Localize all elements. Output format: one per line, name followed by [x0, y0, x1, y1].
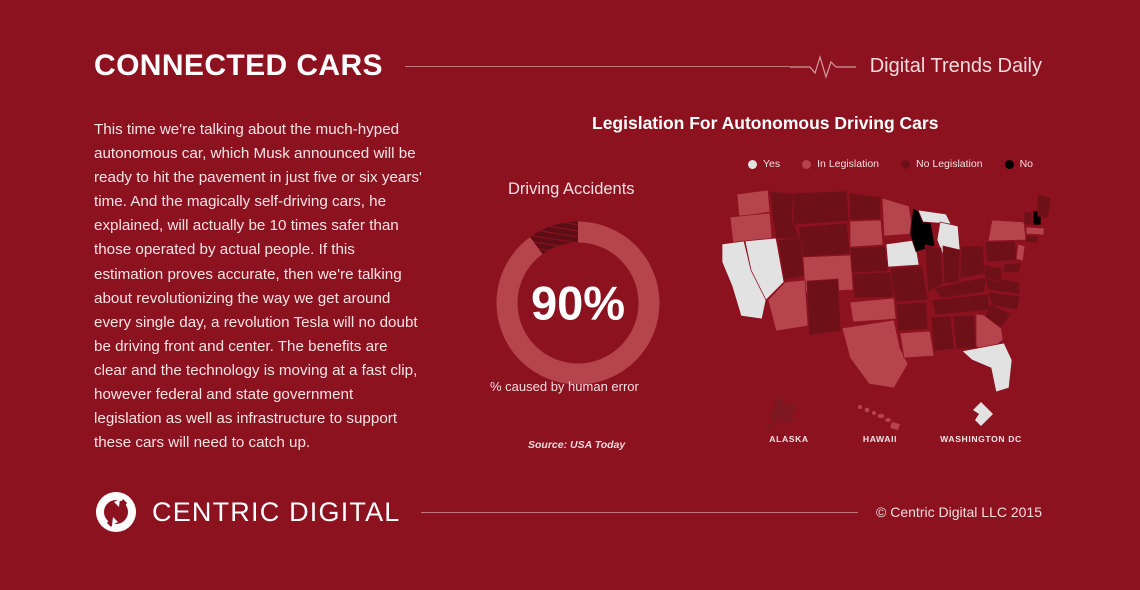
copyright: © Centric Digital LLC 2015: [876, 504, 1042, 520]
state-il: [925, 245, 943, 292]
state-mn: [882, 198, 913, 236]
map-legend: Yes In Legislation No Legislation No: [748, 158, 1033, 170]
legend-label: In Legislation: [817, 158, 879, 170]
tagline: Digital Trends Daily: [870, 55, 1042, 78]
infographic-canvas: CONNECTED CARS Digital Trends Daily This…: [0, 0, 1140, 590]
state-vt: [1024, 212, 1032, 225]
brand-name: CENTRIC DIGITAL: [152, 497, 401, 528]
state-pa: [985, 241, 1017, 262]
state-oh: [960, 246, 985, 278]
donut-title: Driving Accidents: [508, 180, 691, 199]
dc-shape-icon: [967, 400, 995, 430]
inset-hawaii: HAWAII: [840, 404, 920, 444]
us-map-graphic: [704, 188, 1064, 403]
footer: CENTRIC DIGITAL © Centric Digital LLC 20…: [94, 489, 1042, 535]
legend-item-in-legislation: In Legislation: [802, 158, 879, 170]
inset-alaska: ALASKA: [754, 396, 824, 444]
article-body: This time we're talking about the much-h…: [94, 118, 424, 455]
state-ny: [988, 220, 1026, 241]
donut-graphic: 90%: [488, 213, 668, 393]
state-in: [943, 246, 960, 283]
state-ms: [931, 316, 954, 351]
donut-value-label: 90%: [531, 277, 625, 330]
legend-swatch-icon: [1005, 160, 1014, 169]
state-nd: [849, 193, 881, 220]
heartbeat-pulse-icon: [790, 53, 856, 79]
legend-item-yes: Yes: [748, 158, 780, 170]
state-sd: [850, 220, 883, 247]
inset-label: ALASKA: [754, 434, 824, 444]
state-mi-upper: [918, 210, 951, 224]
state-mt: [793, 191, 849, 225]
state-ks: [853, 272, 893, 298]
state-nm: [807, 279, 841, 335]
hawaii-shape-icon: [856, 404, 904, 430]
donut-caption: % caused by human error: [490, 379, 720, 394]
inset-washington-dc: WASHINGTON DC: [926, 400, 1036, 444]
legend-label: No: [1020, 158, 1033, 170]
state-nj: [1016, 244, 1025, 261]
legend-swatch-icon: [901, 160, 910, 169]
header-divider-line: [405, 66, 790, 67]
inset-label: HAWAII: [840, 434, 920, 444]
page-title: CONNECTED CARS: [94, 49, 383, 83]
state-ne: [850, 246, 888, 273]
map-title: Legislation For Autonomous Driving Cars: [592, 113, 1072, 134]
state-la: [900, 331, 934, 358]
legend-swatch-icon: [748, 160, 757, 169]
state-me: [1037, 194, 1051, 218]
map-insets: ALASKA HAWAII WASHINGTON DC: [744, 396, 1044, 458]
state-ok: [850, 298, 896, 322]
inset-label: WASHINGTON DC: [926, 434, 1036, 444]
legend-label: No Legislation: [916, 158, 983, 170]
state-fl: [962, 343, 1012, 392]
legend-item-no-legislation: No Legislation: [901, 158, 983, 170]
state-wy: [799, 223, 850, 257]
state-wa: [737, 190, 770, 217]
state-ma: [1026, 227, 1044, 235]
us-choropleth-map: [704, 188, 1064, 403]
footer-divider-line: [421, 512, 859, 513]
centric-digital-logo-icon: [94, 490, 138, 534]
state-tn: [932, 294, 990, 315]
state-ar: [896, 302, 928, 331]
alaska-shape-icon: [766, 396, 812, 430]
state-or: [730, 213, 772, 243]
state-ct: [1026, 236, 1038, 243]
state-al: [953, 315, 976, 349]
state-mo: [891, 266, 928, 302]
donut-chart: Driving Accidents 90%: [486, 180, 691, 393]
legend-label: Yes: [763, 158, 780, 170]
legend-swatch-icon: [802, 160, 811, 169]
donut-source: Source: USA Today: [528, 439, 625, 451]
header: CONNECTED CARS Digital Trends Daily: [94, 44, 1042, 88]
legend-item-no: No: [1005, 158, 1033, 170]
state-md: [1003, 263, 1021, 273]
